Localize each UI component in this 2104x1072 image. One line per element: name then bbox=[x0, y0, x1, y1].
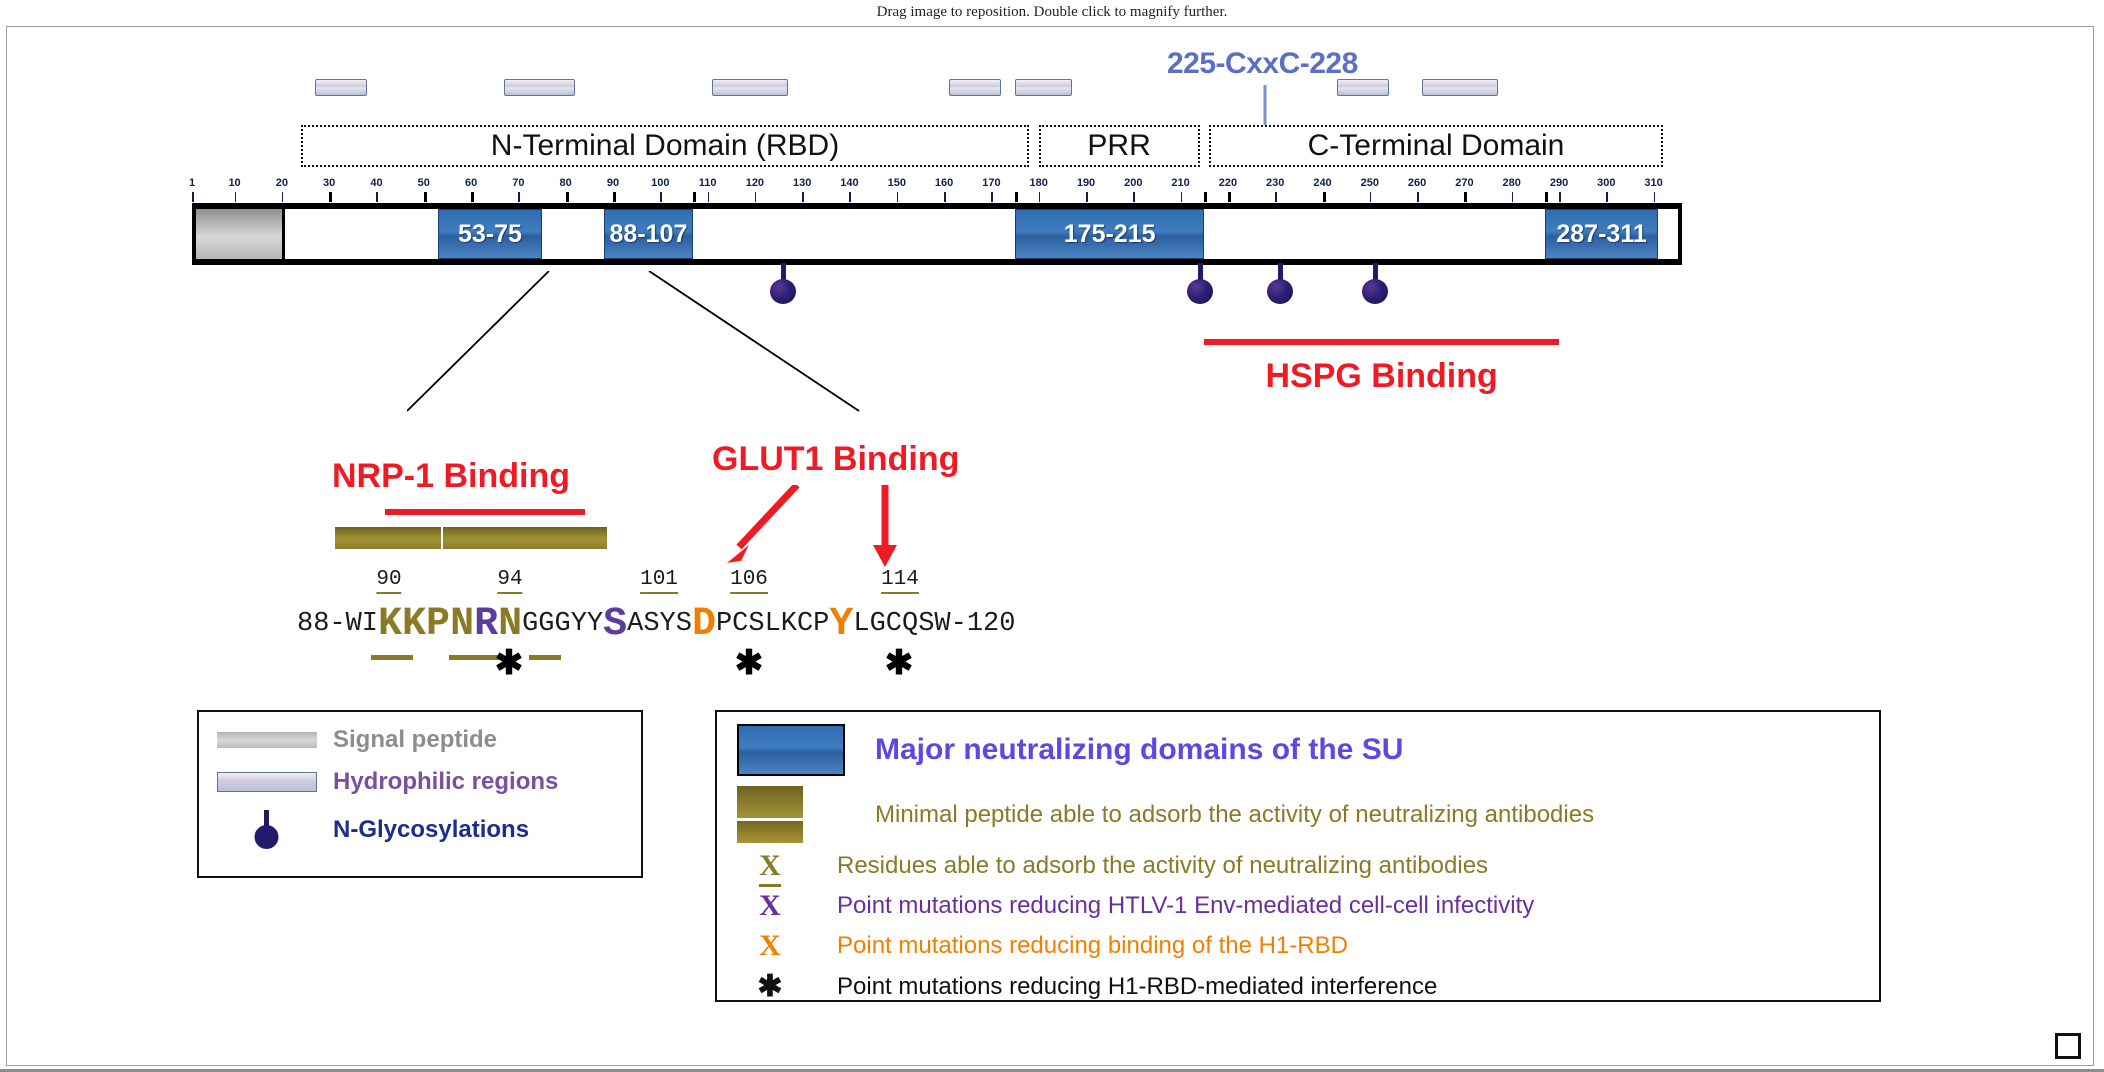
legend-left-item-2: Hydrophilic regions bbox=[217, 768, 641, 796]
ruler-tick-label: 40 bbox=[370, 177, 382, 189]
sequence-residue: LGCQSW bbox=[853, 609, 950, 639]
ruler-tick-label: 250 bbox=[1361, 177, 1379, 189]
ruler-tick-label: 10 bbox=[228, 177, 240, 189]
ruler-tick-label: 280 bbox=[1503, 177, 1521, 189]
ruler-tick-label: 220 bbox=[1219, 177, 1237, 189]
ruler-tick-mark bbox=[424, 192, 427, 202]
hydrophilic-region-5 bbox=[1015, 79, 1072, 96]
ruler-tick-label: 270 bbox=[1455, 177, 1473, 189]
ruler-tick-label: 180 bbox=[1030, 177, 1048, 189]
ruler-tick-mark bbox=[282, 192, 284, 202]
protein-segment-signal-peptide bbox=[196, 209, 285, 259]
ruler-tick-mark bbox=[329, 192, 332, 202]
hydrophilic-bars bbox=[192, 79, 1682, 99]
sequence-line: 88-WIKKPNRNGGGYYSASYSDPCSLKCPYLGCQSW-120 bbox=[297, 602, 1057, 647]
ruler-tick-mark bbox=[1464, 192, 1467, 202]
ruler-tick-label: 1 bbox=[189, 177, 195, 189]
ruler-tick-label: 300 bbox=[1597, 177, 1615, 189]
legend-right-item-4: XPoint mutations reducing HTLV-1 Env-med… bbox=[737, 889, 1879, 923]
ruler-tick-mark bbox=[1545, 192, 1548, 202]
legend-right-label: Point mutations reducing binding of the … bbox=[837, 932, 1348, 960]
sequence-residue: D bbox=[692, 602, 716, 647]
ruler-tick-label: 90 bbox=[607, 177, 619, 189]
ruler-tick-mark bbox=[1417, 192, 1419, 202]
minimal-peptide-swatch bbox=[737, 786, 845, 843]
ruler-tick-mark bbox=[693, 192, 696, 202]
legend-right-item-5: XPoint mutations reducing binding of the… bbox=[737, 929, 1879, 963]
legend-right-label: Point mutations reducing HTLV-1 Env-medi… bbox=[837, 892, 1534, 920]
domain-label-row: N-Terminal Domain (RBD)PRRC-Terminal Dom… bbox=[192, 125, 1682, 169]
protein-bar: 53-7588-107175-215287-311 bbox=[192, 203, 1682, 265]
ruler-tick-mark bbox=[1181, 192, 1183, 202]
legend-glyph-icon: X bbox=[737, 889, 803, 923]
ruler-tick-mark bbox=[566, 192, 569, 202]
residue-ruler: 1102030405060708090100110120130140150160… bbox=[192, 177, 1682, 205]
mutation-asterisk: ✱ bbox=[885, 643, 914, 683]
ruler-tick-mark bbox=[944, 192, 946, 202]
hspg-label: HSPG Binding bbox=[1265, 357, 1497, 396]
legend-left-item-3: N-Glycosylations bbox=[217, 810, 641, 850]
ruler-tick-label: 170 bbox=[982, 177, 1000, 189]
ruler-tick-mark bbox=[376, 192, 378, 202]
figure-canvas: 225-CxxC-228 N-Terminal Domain (RBD)PRRC… bbox=[6, 26, 2094, 1066]
domain-box-3: C-Terminal Domain bbox=[1209, 125, 1663, 167]
legend-right-label: Residues able to adsorb the activity of … bbox=[837, 852, 1488, 880]
protein-segment-nd-88-107: 88-107 bbox=[604, 209, 694, 259]
ruler-tick-label: 30 bbox=[323, 177, 335, 189]
ruler-tick-mark bbox=[235, 192, 237, 202]
ruler-tick-label: 260 bbox=[1408, 177, 1426, 189]
ruler-tick-mark bbox=[755, 192, 757, 202]
ruler-tick-mark bbox=[518, 192, 520, 202]
hydrophilic-region-3 bbox=[712, 79, 788, 96]
legend-left-item-1: Signal peptide bbox=[217, 726, 641, 754]
legend-right: Major neutralizing domains of the SUMini… bbox=[715, 710, 1881, 1002]
ruler-tick-mark bbox=[1086, 192, 1088, 202]
domain-box-2: PRR bbox=[1039, 125, 1200, 167]
sequence-residue: PCSLKCP bbox=[716, 609, 829, 639]
ruler-tick-mark bbox=[1039, 192, 1041, 202]
hydrophilic-region-4 bbox=[949, 79, 1001, 96]
legend-left-label: N-Glycosylations bbox=[333, 816, 529, 844]
residue-underline bbox=[529, 655, 561, 660]
ruler-tick-mark bbox=[849, 192, 851, 202]
ruler-tick-label: 210 bbox=[1171, 177, 1189, 189]
ruler-tick-mark bbox=[1559, 192, 1561, 202]
ruler-tick-label: 80 bbox=[560, 177, 572, 189]
legend-right-item-6: ✱Point mutations reducing H1-RBD-mediate… bbox=[737, 969, 1879, 1004]
neutralizing-domain-swatch bbox=[737, 724, 845, 776]
ruler-tick-label: 100 bbox=[651, 177, 669, 189]
protein-segment-nd-175-215: 175-215 bbox=[1015, 209, 1204, 259]
legend-right-item-3: XResidues able to adsorb the activity of… bbox=[737, 849, 1879, 883]
sequence-position-label: 114 bbox=[881, 568, 919, 594]
sequence-position-label: 94 bbox=[497, 568, 522, 594]
legend-right-item-1: Major neutralizing domains of the SU bbox=[737, 724, 1879, 776]
legend-left-label: Hydrophilic regions bbox=[333, 768, 558, 796]
ruler-tick-label: 190 bbox=[1077, 177, 1095, 189]
ruler-tick-label: 200 bbox=[1124, 177, 1142, 189]
ruler-tick-mark bbox=[1228, 192, 1231, 202]
ruler-tick-label: 110 bbox=[699, 177, 717, 189]
cxxc-label: 225-CxxC-228 bbox=[1167, 47, 1358, 81]
sequence-residue: P bbox=[426, 602, 450, 647]
ruler-tick-mark bbox=[1512, 192, 1514, 202]
sequence-block: 9094101106114 88-WIKKPNRNGGGYYSASYSDPCSL… bbox=[297, 602, 1057, 691]
mutation-asterisk: ✱ bbox=[735, 643, 764, 683]
residue-underline bbox=[371, 655, 413, 660]
protein-segment-nd-53-75: 53-75 bbox=[438, 209, 542, 259]
protein-segment-nd-287-311: 287-311 bbox=[1545, 209, 1659, 259]
legend-right-label: Minimal peptide able to adsorb the activ… bbox=[875, 801, 1594, 829]
ruler-tick-label: 20 bbox=[276, 177, 288, 189]
domain-box-1: N-Terminal Domain (RBD) bbox=[301, 125, 1029, 167]
ruler-tick-label: 310 bbox=[1644, 177, 1662, 189]
legend-left: Signal peptideHydrophilic regionsN-Glyco… bbox=[197, 710, 643, 878]
ruler-tick-label: 60 bbox=[465, 177, 477, 189]
legend-right-item-2: Minimal peptide able to adsorb the activ… bbox=[737, 786, 1879, 843]
ruler-tick-mark bbox=[708, 192, 710, 202]
sequence-residue: ASYS bbox=[627, 609, 692, 639]
mutation-asterisk: ✱ bbox=[495, 643, 524, 683]
sequence-start-tag: 88- bbox=[297, 609, 346, 639]
ruler-tick-mark bbox=[802, 192, 804, 202]
ruler-tick-mark bbox=[1654, 192, 1656, 202]
sequence-position-label: 106 bbox=[730, 568, 768, 594]
hydrophilic-swatch bbox=[217, 772, 317, 792]
legend-right-label: Major neutralizing domains of the SU bbox=[875, 733, 1403, 767]
sequence-position-label: 90 bbox=[376, 568, 401, 594]
legend-glyph-icon: ✱ bbox=[737, 969, 803, 1004]
ruler-tick-mark bbox=[1323, 192, 1326, 202]
ruler-tick-mark bbox=[1275, 192, 1277, 202]
ruler-tick-label: 290 bbox=[1550, 177, 1568, 189]
nrp1-label: NRP-1 Binding bbox=[332, 457, 570, 496]
sequence-residue: Y bbox=[829, 602, 853, 647]
legend-glyph-icon: X bbox=[737, 849, 803, 883]
resize-handle[interactable] bbox=[2055, 1033, 2081, 1059]
hydrophilic-region-7 bbox=[1422, 79, 1498, 96]
zoom-leader-lines bbox=[407, 271, 947, 421]
hydrophilic-region-6 bbox=[1337, 79, 1389, 96]
ruler-tick-label: 160 bbox=[935, 177, 953, 189]
sequence-residue: GGGYY bbox=[522, 609, 603, 639]
ruler-tick-label: 140 bbox=[840, 177, 858, 189]
glycosylation-icon bbox=[217, 810, 317, 850]
nrp1-underline bbox=[385, 509, 585, 515]
ruler-tick-mark bbox=[1370, 192, 1372, 202]
ruler-tick-mark bbox=[660, 192, 662, 202]
ruler-tick-mark bbox=[471, 192, 474, 202]
ruler-tick-mark bbox=[991, 192, 993, 202]
drag-hint: Drag image to reposition. Double click t… bbox=[0, 4, 2104, 21]
sequence-residue: N bbox=[498, 602, 522, 647]
minimal-peptide-bar bbox=[335, 527, 607, 549]
legend-right-label: Point mutations reducing H1-RBD-mediated… bbox=[837, 973, 1437, 1001]
ruler-tick-label: 130 bbox=[793, 177, 811, 189]
hydrophilic-region-1 bbox=[315, 79, 367, 96]
sequence-end-tag: -120 bbox=[951, 609, 1016, 639]
ruler-tick-mark bbox=[1606, 192, 1608, 202]
ruler-tick-label: 120 bbox=[746, 177, 764, 189]
glut1-label: GLUT1 Binding bbox=[712, 440, 959, 479]
sequence-markers: ✱✱✱ bbox=[297, 647, 1057, 691]
sequence-residue: K bbox=[378, 602, 402, 647]
legend-left-label: Signal peptide bbox=[333, 726, 497, 754]
ruler-tick-label: 50 bbox=[418, 177, 430, 189]
residue-underline bbox=[449, 655, 501, 660]
sequence-residue: S bbox=[603, 602, 627, 647]
sequence-position-label: 101 bbox=[640, 568, 678, 594]
ruler-tick-mark bbox=[1015, 192, 1018, 202]
hspg-underline bbox=[1204, 339, 1559, 345]
sequence-prefix: WI bbox=[346, 609, 378, 639]
ruler-tick-label: 70 bbox=[512, 177, 524, 189]
ruler-tick-mark bbox=[192, 192, 194, 202]
ruler-tick-mark bbox=[1204, 192, 1207, 202]
sequence-residue: K bbox=[402, 602, 426, 647]
signal-peptide-swatch bbox=[217, 732, 317, 748]
ruler-tick-mark bbox=[1133, 192, 1135, 202]
sequence-residue: N bbox=[450, 602, 474, 647]
ruler-tick-label: 230 bbox=[1266, 177, 1284, 189]
ruler-tick-label: 150 bbox=[888, 177, 906, 189]
sequence-residue: R bbox=[474, 602, 498, 647]
ruler-tick-mark bbox=[897, 192, 899, 202]
minimal-peptide-divider bbox=[441, 527, 443, 549]
hydrophilic-region-2 bbox=[504, 79, 575, 96]
ruler-tick-label: 240 bbox=[1313, 177, 1331, 189]
ruler-tick-mark bbox=[613, 192, 616, 202]
sequence-position-numbers: 9094101106114 bbox=[297, 566, 1057, 600]
legend-glyph-icon: X bbox=[737, 929, 803, 963]
